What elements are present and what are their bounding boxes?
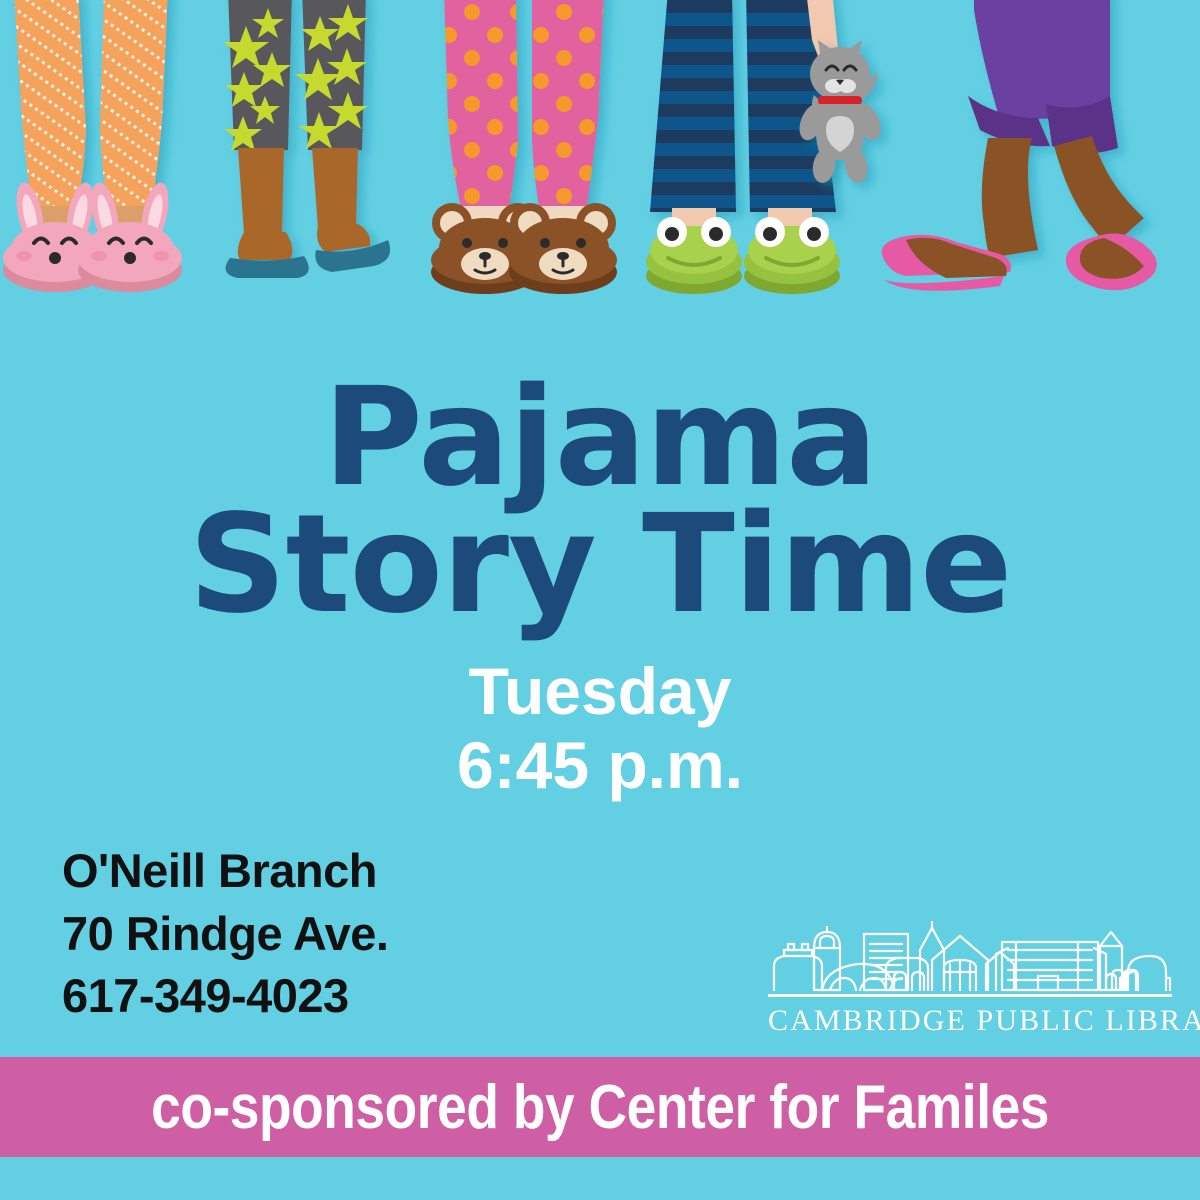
event-day: Tuesday xyxy=(0,655,1200,729)
page-title: Pajama Story Time xyxy=(0,372,1200,633)
pajama-legs-illustration xyxy=(0,0,1200,305)
venue-address: O'Neill Branch 70 Rindge Ave. 617-349-40… xyxy=(62,840,388,1028)
skyline-icon xyxy=(768,920,1172,992)
cosponsor-text: co-sponsored by Center for Familes xyxy=(151,1072,1049,1143)
logo-wordmark: CAMBRIDGE PUBLIC LIBRARY xyxy=(768,1004,1172,1038)
frog-slipper-right xyxy=(744,217,840,294)
branch-name: O'Neill Branch xyxy=(62,840,388,903)
phone-number: 617-349-4023 xyxy=(62,965,388,1028)
title-line-1: Pajama xyxy=(0,372,1200,505)
logo-divider xyxy=(768,994,1172,997)
event-time: 6:45 p.m. xyxy=(0,729,1200,803)
poster: Pajama Story Time Tuesday 6:45 p.m. O'Ne… xyxy=(0,0,1200,1200)
event-schedule: Tuesday 6:45 p.m. xyxy=(0,655,1200,803)
frog-slipper-left xyxy=(646,217,742,294)
cosponsor-banner: co-sponsored by Center for Familes xyxy=(0,1057,1200,1157)
street-address: 70 Rindge Ave. xyxy=(62,903,388,966)
title-line-2: Story Time xyxy=(0,499,1200,632)
library-logo: CAMBRIDGE PUBLIC LIBRARY xyxy=(768,920,1172,1038)
